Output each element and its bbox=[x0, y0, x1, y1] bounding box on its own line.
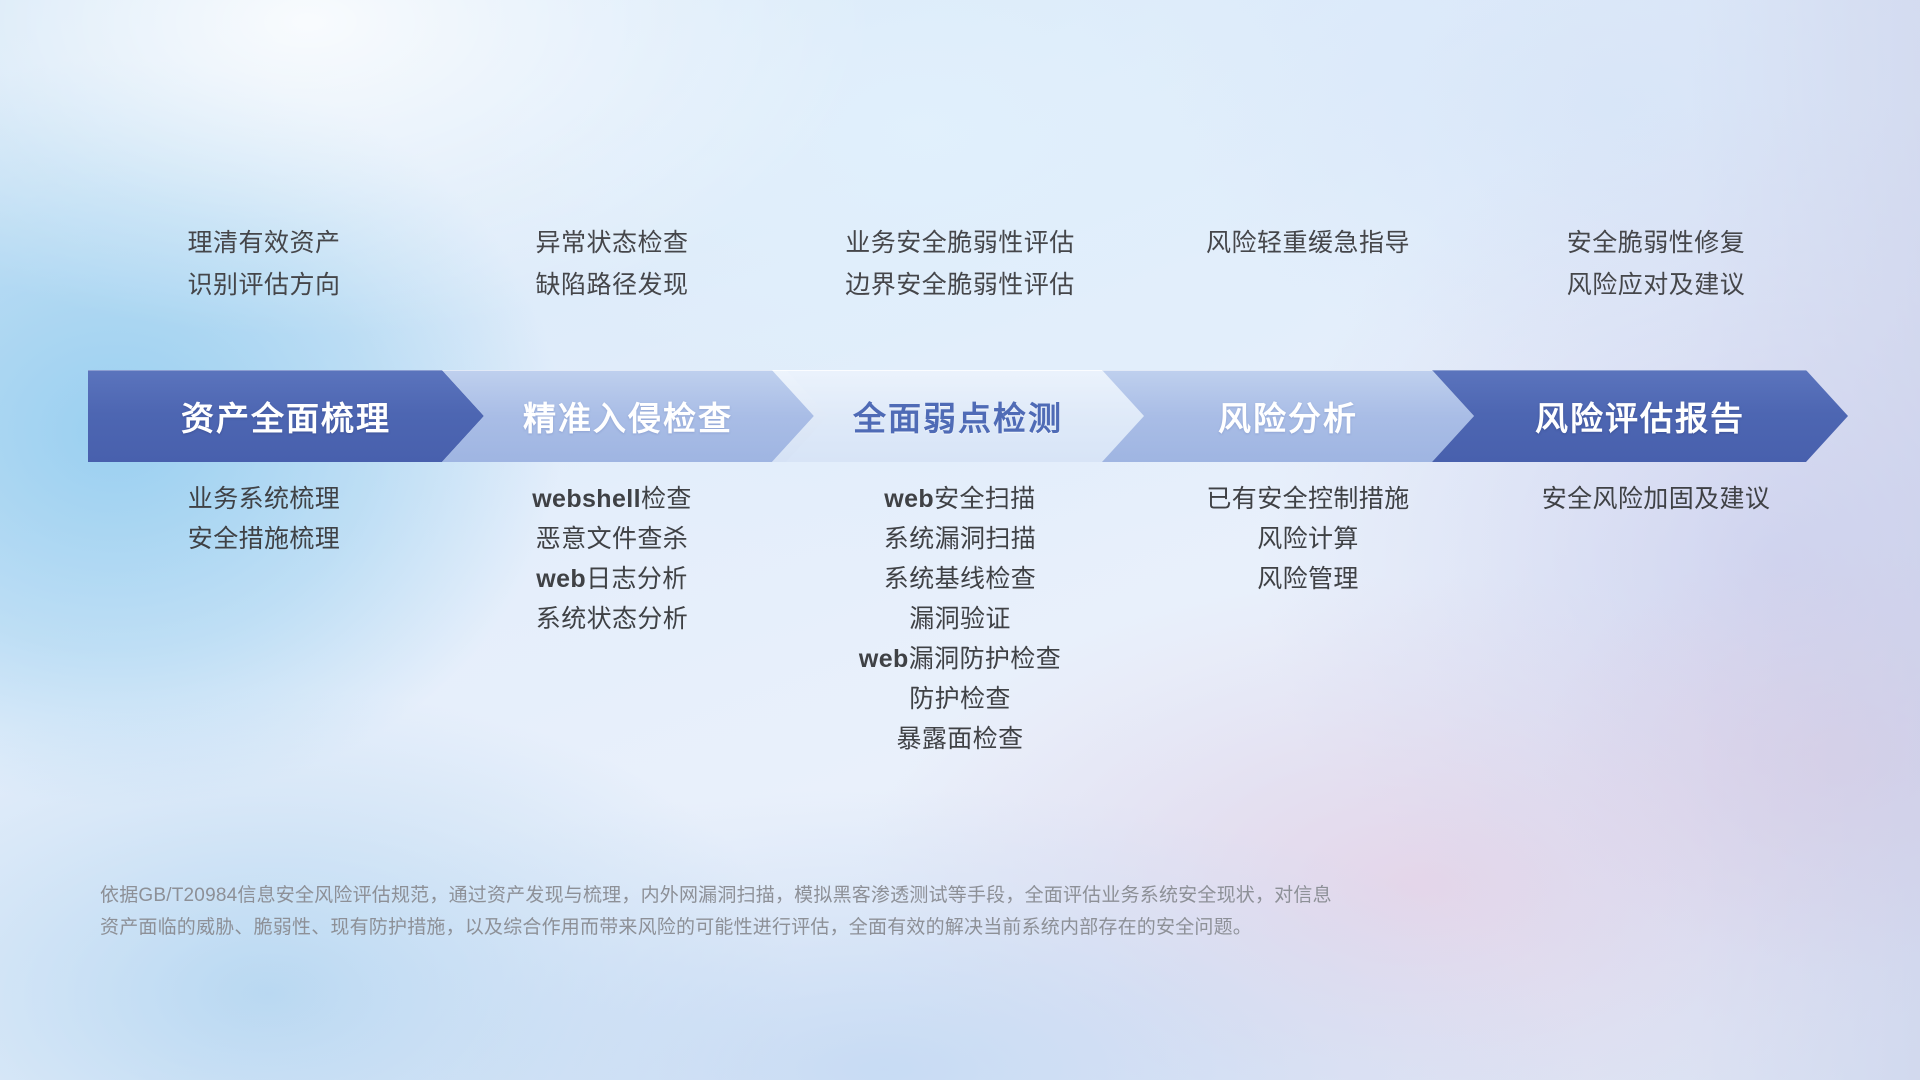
top-note: 边界安全脆弱性评估 bbox=[845, 270, 1075, 300]
top-notes-column-risk-report: 安全脆弱性修复 风险应对及建议 bbox=[1482, 228, 1830, 300]
stage-chevron-label: 资产全面梳理 bbox=[181, 392, 391, 440]
stage-item: 已有安全控制措施 bbox=[1206, 485, 1409, 513]
top-note: 安全脆弱性修复 bbox=[1567, 228, 1746, 258]
top-note: 理清有效资产 bbox=[187, 228, 340, 258]
stage-item: 安全措施梳理 bbox=[188, 525, 340, 553]
stage-chevron-intrusion-check[interactable]: 精准入侵检查 bbox=[442, 370, 814, 462]
stage-item: 漏洞验证 bbox=[909, 605, 1011, 633]
stage-items-row: 业务系统梳理 安全措施梳理 webshell检查 恶意文件查杀 web日志分析 … bbox=[90, 485, 1830, 753]
top-note: 风险应对及建议 bbox=[1567, 270, 1746, 300]
stage-item: 系统基线检查 bbox=[884, 565, 1036, 593]
top-note: 识别评估方向 bbox=[187, 270, 340, 300]
stage-item: 业务系统梳理 bbox=[188, 485, 340, 513]
stage-chevron-weakness-detection[interactable]: 全面弱点检测 bbox=[772, 370, 1144, 462]
stage-chevron-label: 全面弱点检测 bbox=[853, 392, 1063, 440]
stage-item: 风险管理 bbox=[1257, 565, 1359, 593]
stage-item: webshell检查 bbox=[532, 485, 692, 513]
stage-chevron-label: 风险分析 bbox=[1218, 392, 1358, 440]
latin-token: web bbox=[859, 645, 909, 673]
stage-items-column-risk-report: 安全风险加固及建议 bbox=[1482, 485, 1830, 753]
stage-item: 暴露面检查 bbox=[896, 725, 1023, 753]
stage-item: 系统状态分析 bbox=[536, 605, 688, 633]
stage-item: 风险计算 bbox=[1257, 525, 1359, 553]
top-notes-row: 理清有效资产 识别评估方向 异常状态检查 缺陷路径发现 业务安全脆弱性评估 边界… bbox=[90, 228, 1830, 300]
stage-items-column-asset-inventory: 业务系统梳理 安全措施梳理 bbox=[90, 485, 438, 753]
process-arrow-bar: 资产全面梳理 精准入侵检查 全面弱点检测 风险分析 风险评估报告 bbox=[88, 370, 1848, 462]
stage-chevron-risk-report[interactable]: 风险评估报告 bbox=[1432, 370, 1848, 462]
stage-chevron-risk-analysis[interactable]: 风险分析 bbox=[1102, 370, 1474, 462]
top-notes-column-risk-analysis: 风险轻重缓急指导 bbox=[1134, 228, 1482, 300]
stage-chevron-label: 风险评估报告 bbox=[1535, 392, 1745, 440]
stage-chevron-label: 精准入侵检查 bbox=[523, 392, 733, 440]
stage-item: web日志分析 bbox=[536, 565, 687, 593]
stage-item: web漏洞防护检查 bbox=[859, 645, 1061, 673]
stage-item: 系统漏洞扫描 bbox=[884, 525, 1036, 553]
stage-item: 防护检查 bbox=[909, 685, 1011, 713]
top-note: 业务安全脆弱性评估 bbox=[845, 228, 1075, 258]
latin-token: webshell bbox=[532, 485, 641, 513]
top-notes-column-weakness-detection: 业务安全脆弱性评估 边界安全脆弱性评估 bbox=[786, 228, 1134, 300]
latin-token: web bbox=[536, 565, 586, 593]
slide-content: 理清有效资产 识别评估方向 异常状态检查 缺陷路径发现 业务安全脆弱性评估 边界… bbox=[0, 0, 1920, 1080]
top-note: 风险轻重缓急指导 bbox=[1206, 228, 1410, 258]
stage-item: web安全扫描 bbox=[884, 485, 1035, 513]
stage-items-column-risk-analysis: 已有安全控制措施 风险计算 风险管理 bbox=[1134, 485, 1482, 753]
top-note: 异常状态检查 bbox=[535, 228, 688, 258]
top-notes-column-asset-inventory: 理清有效资产 识别评估方向 bbox=[90, 228, 438, 300]
top-note: 缺陷路径发现 bbox=[535, 270, 688, 300]
footer-line: 资产面临的威胁、脆弱性、现有防护措施，以及综合作用而带来风险的可能性进行评估，全… bbox=[100, 912, 1660, 944]
stage-items-column-weakness-detection: web安全扫描 系统漏洞扫描 系统基线检查 漏洞验证 web漏洞防护检查 防护检… bbox=[786, 485, 1134, 753]
top-notes-column-intrusion-check: 异常状态检查 缺陷路径发现 bbox=[438, 228, 786, 300]
stage-items-column-intrusion-check: webshell检查 恶意文件查杀 web日志分析 系统状态分析 bbox=[438, 485, 786, 753]
stage-chevron-asset-inventory[interactable]: 资产全面梳理 bbox=[88, 370, 484, 462]
stage-item: 安全风险加固及建议 bbox=[1542, 485, 1771, 513]
footer-line: 依据GB/T20984信息安全风险评估规范，通过资产发现与梳理，内外网漏洞扫描，… bbox=[100, 880, 1660, 912]
latin-token: web bbox=[884, 485, 934, 513]
stage-item: 恶意文件查杀 bbox=[536, 525, 688, 553]
slide-canvas: 理清有效资产 识别评估方向 异常状态检查 缺陷路径发现 业务安全脆弱性评估 边界… bbox=[0, 0, 1920, 1080]
footer-description: 依据GB/T20984信息安全风险评估规范，通过资产发现与梳理，内外网漏洞扫描，… bbox=[100, 880, 1660, 944]
